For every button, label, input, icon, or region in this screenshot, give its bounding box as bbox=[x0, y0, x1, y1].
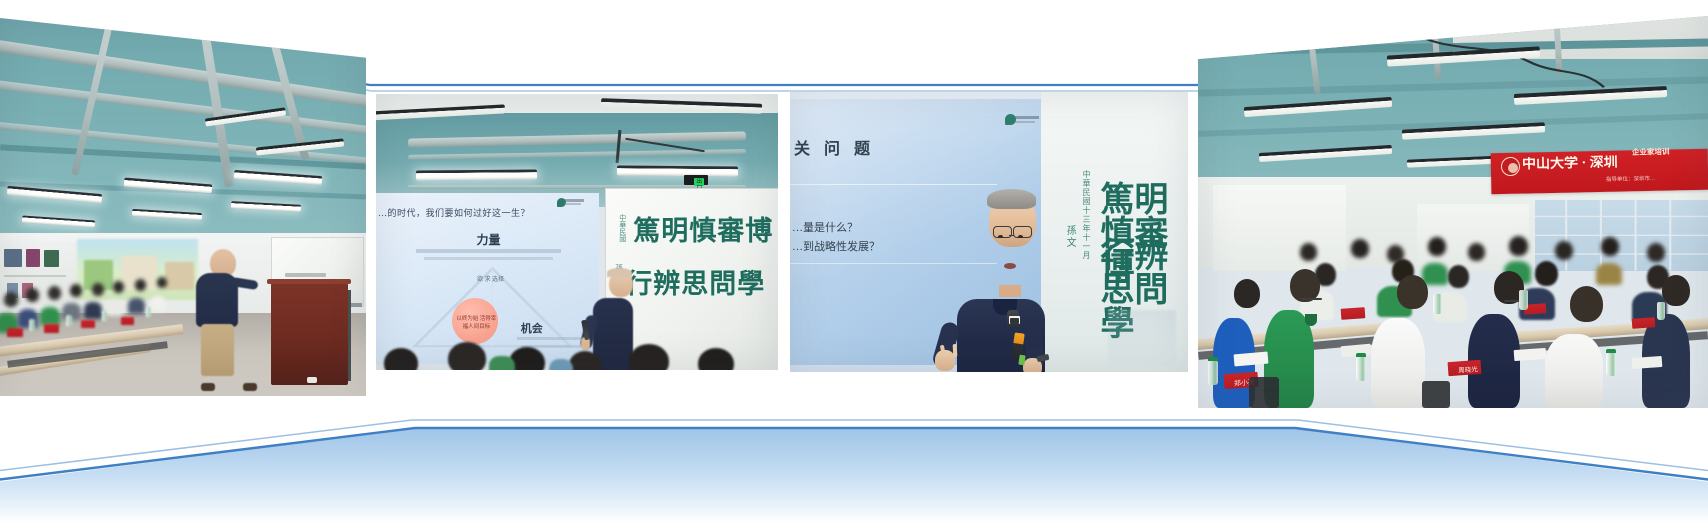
perspective-carousel-stage: 出口 …的时代，我们要如何过好这一生？ 力量 欲 求 选择 bbox=[0, 0, 1708, 523]
perspective-floor bbox=[0, 420, 1708, 523]
slide-triangle-top: 欲 求 选择 bbox=[460, 276, 520, 292]
carousel-slide-mid-left[interactable]: 出口 …的时代，我们要如何过好这一生？ 力量 欲 求 选择 bbox=[376, 94, 778, 370]
slide-center-label: 力量 bbox=[432, 233, 545, 247]
wall-calligraphy-side: 中華民國 bbox=[619, 215, 627, 243]
carousel-slide-left[interactable] bbox=[0, 18, 366, 396]
wall-calligraphy-signature: 孫 文 bbox=[1067, 226, 1078, 250]
banner-subtitle-small: 指导单位：深圳市… bbox=[1606, 174, 1703, 184]
wall-calligraphy-line2: 行辨思問學 bbox=[625, 271, 765, 298]
slide-circle-text: 以终为始 活得幸福人间目标 bbox=[454, 315, 498, 331]
carousel-slide-mid-right[interactable]: 关 问 题 …量是什么？ …到战略性发展？ 篤明慎審博 行辨思問學 中華民國十三… bbox=[790, 92, 1188, 372]
nameplate-2: 周晓光 bbox=[1453, 364, 1484, 377]
wall-calligraphy-line1: 篤明慎審博 bbox=[633, 218, 773, 245]
slide-bullet-2: …到战略性发展？ bbox=[792, 240, 975, 254]
banner-title: 中山大学 · 深圳 bbox=[1522, 155, 1645, 174]
photo-audience-rows: 中山大学 · 深圳 企业家培训 指导单位：深圳市… bbox=[1198, 16, 1708, 408]
floor-gradient bbox=[0, 420, 1708, 523]
photo-speaker-portrait: 关 问 题 …量是什么？ …到战略性发展？ 篤明慎審博 行辨思問學 中華民國十三… bbox=[790, 92, 1188, 372]
slide-headline: 关 问 题 bbox=[794, 140, 977, 160]
carousel-slide-right[interactable]: 中山大学 · 深圳 企业家培训 指导单位：深圳市… bbox=[1198, 16, 1708, 408]
slide-bullet-1: …量是什么？ bbox=[792, 221, 959, 235]
wall-calligraphy-side: 中華民國十三年十一月 bbox=[1083, 170, 1093, 260]
banner-subtitle-right: 企业家培训 bbox=[1631, 147, 1708, 159]
exit-sign-label: 出口 bbox=[695, 179, 704, 186]
photo-lecture-slide: 出口 …的时代，我们要如何过好这一生？ 力量 欲 求 选择 bbox=[376, 94, 778, 370]
photo-classroom-wide bbox=[0, 18, 366, 396]
slide-headline: …的时代，我们要如何过好这一生？ bbox=[378, 207, 587, 219]
